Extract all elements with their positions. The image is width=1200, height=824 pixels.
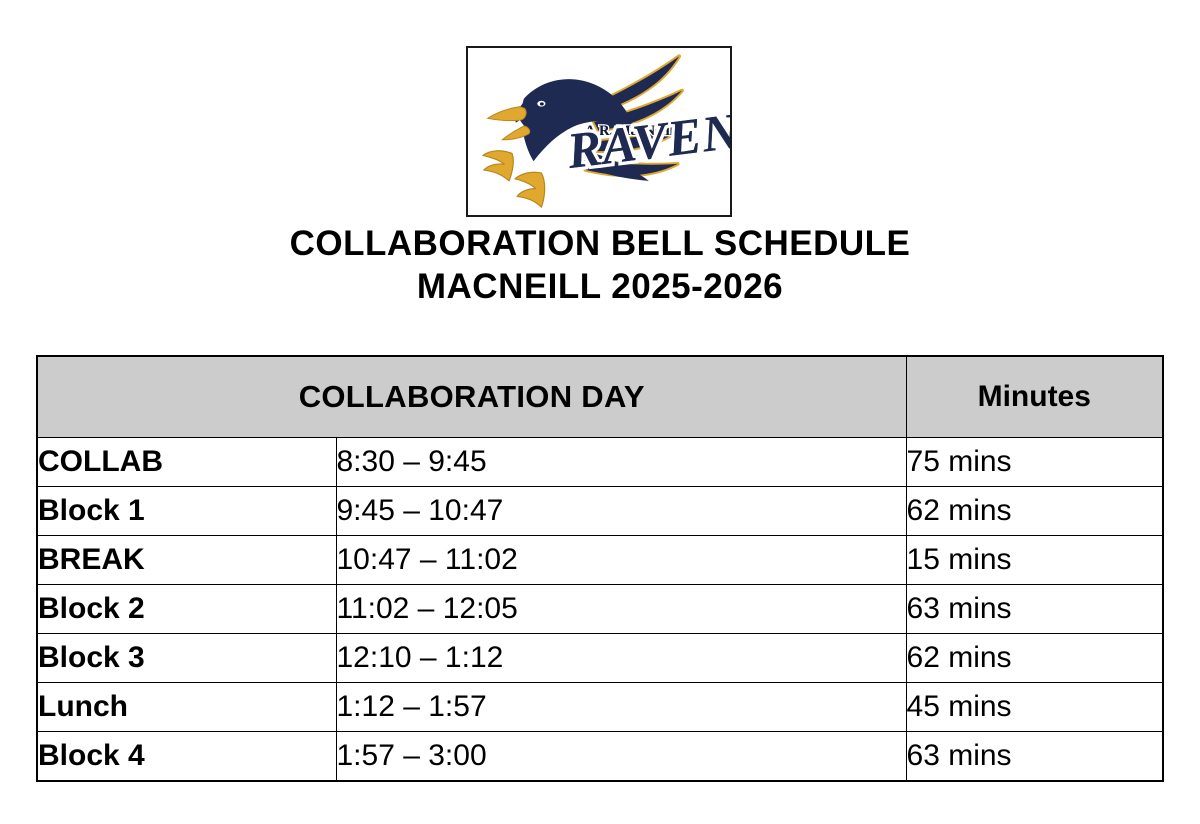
- table-header-row: COLLABORATION DAY Minutes: [37, 356, 1163, 438]
- cell-duration: 75 mins: [906, 438, 1163, 487]
- table-row: Block 211:02 – 12:0563 mins: [37, 585, 1163, 634]
- cell-period-label: Block 1: [37, 487, 336, 536]
- page-title: COLLABORATION BELL SCHEDULE MACNEILL 202…: [0, 222, 1200, 308]
- cell-period-label: Lunch: [37, 683, 336, 732]
- school-logo-frame: A.R. MacNeill A.R. MacNeill RAVENS RAVEN…: [466, 46, 732, 217]
- cell-time-range: 9:45 – 10:47: [336, 487, 906, 536]
- cell-duration: 63 mins: [906, 732, 1163, 781]
- cell-period-label: BREAK: [37, 536, 336, 585]
- cell-duration: 62 mins: [906, 634, 1163, 683]
- cell-period-label: Block 4: [37, 732, 336, 781]
- cell-period-label: Block 3: [37, 634, 336, 683]
- title-line-2: MACNEILL 2025-2026: [0, 265, 1200, 308]
- raven-pupil: [540, 102, 544, 105]
- title-line-1: COLLABORATION BELL SCHEDULE: [0, 222, 1200, 265]
- cell-time-range: 1:12 – 1:57: [336, 683, 906, 732]
- table-row: BREAK10:47 – 11:0215 mins: [37, 536, 1163, 585]
- cell-time-range: 8:30 – 9:45: [336, 438, 906, 487]
- table-row: COLLAB8:30 – 9:4575 mins: [37, 438, 1163, 487]
- column-header-collaboration-day: COLLABORATION DAY: [37, 356, 906, 438]
- table-row: Block 19:45 – 10:4762 mins: [37, 487, 1163, 536]
- table-body: COLLAB8:30 – 9:4575 minsBlock 19:45 – 10…: [37, 438, 1163, 781]
- cell-period-label: Block 2: [37, 585, 336, 634]
- bell-schedule-table: COLLABORATION DAY Minutes COLLAB8:30 – 9…: [36, 355, 1164, 782]
- table-header: COLLABORATION DAY Minutes: [37, 356, 1163, 438]
- cell-time-range: 11:02 – 12:05: [336, 585, 906, 634]
- table-row: Lunch1:12 – 1:5745 mins: [37, 683, 1163, 732]
- ravens-logo-graphic: A.R. MacNeill A.R. MacNeill RAVENS RAVEN…: [468, 48, 730, 215]
- cell-time-range: 12:10 – 1:12: [336, 634, 906, 683]
- column-header-minutes: Minutes: [906, 356, 1163, 438]
- table-row: Block 312:10 – 1:1262 mins: [37, 634, 1163, 683]
- raven-beak-upper: [488, 107, 526, 121]
- cell-time-range: 1:57 – 3:00: [336, 732, 906, 781]
- cell-period-label: COLLAB: [37, 438, 336, 487]
- cell-duration: 15 mins: [906, 536, 1163, 585]
- cell-time-range: 10:47 – 11:02: [336, 536, 906, 585]
- table-row: Block 41:57 – 3:0063 mins: [37, 732, 1163, 781]
- cell-duration: 63 mins: [906, 585, 1163, 634]
- raven-talons: [483, 151, 545, 207]
- cell-duration: 45 mins: [906, 683, 1163, 732]
- cell-duration: 62 mins: [906, 487, 1163, 536]
